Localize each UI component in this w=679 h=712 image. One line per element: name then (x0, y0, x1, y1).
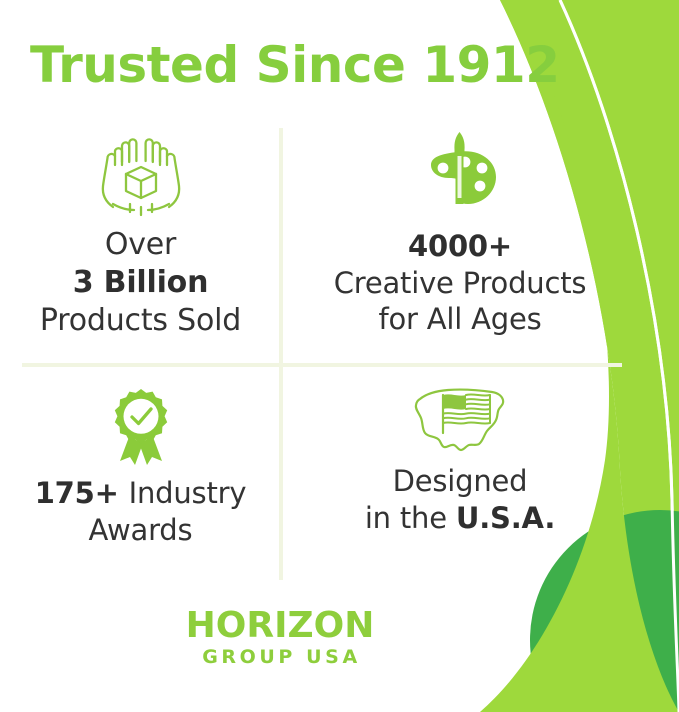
brand-logo: HORIZON GROUP USA (0, 608, 560, 667)
stat-line: Creative Products (334, 265, 587, 302)
paint-palette-brush-icon (410, 130, 510, 222)
stat-line: Awards (35, 512, 247, 549)
stat-card-industry-awards: 175+ Industry Awards (0, 363, 281, 586)
stat-line-emphasis: 3 Billion (40, 264, 241, 302)
stat-line: for All Ages (334, 301, 587, 338)
stats-grid: Over 3 Billion Products Sold (0, 126, 679, 586)
stat-text-designed-in-usa: Designed in the U.S.A. (365, 463, 555, 536)
stat-card-designed-in-usa: Designed in the U.S.A. (281, 363, 679, 586)
stat-line: Products Sold (40, 302, 241, 340)
infographic-canvas: Trusted Since 1912 (0, 0, 679, 712)
stat-text-creative-products: 4000+ Creative Products for All Ages (334, 228, 587, 338)
stat-line-emphasis: 4000+ (334, 228, 587, 265)
logo-tagline: GROUP USA (0, 648, 560, 667)
award-ribbon-check-icon (102, 385, 180, 469)
stat-line-emphasis: 175+ Industry (35, 475, 247, 512)
logo-wordmark: HORIZON (0, 608, 560, 644)
hands-holding-box-icon (89, 134, 193, 220)
stat-text-industry-awards: 175+ Industry Awards (35, 475, 247, 548)
stat-text-products-sold: Over 3 Billion Products Sold (40, 226, 241, 339)
stat-line: Designed (365, 463, 555, 500)
stat-card-products-sold: Over 3 Billion Products Sold (0, 126, 281, 363)
usa-map-flag-icon (406, 383, 514, 457)
stat-line: Over (40, 226, 241, 264)
stat-line-emphasis: in the U.S.A. (365, 500, 555, 537)
stat-card-creative-products: 4000+ Creative Products for All Ages (281, 126, 679, 363)
page-title: Trusted Since 1912 (30, 36, 560, 94)
